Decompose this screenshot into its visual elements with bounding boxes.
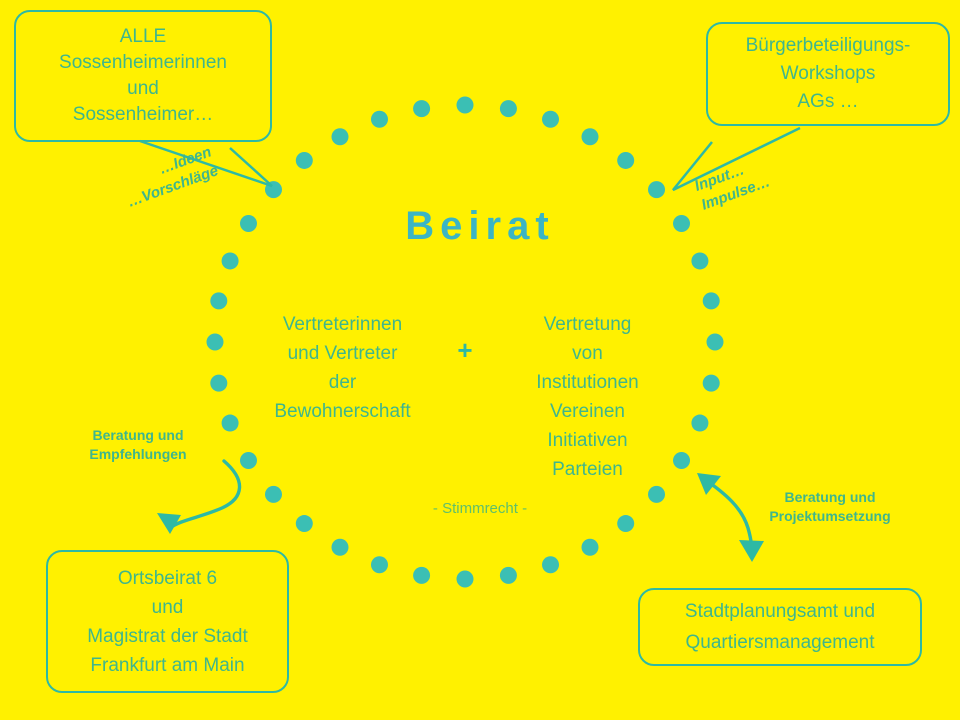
ring-dot [332, 128, 349, 145]
plus-icon: + [450, 310, 480, 365]
label-beratung-empfehlungen: Beratung und Empfehlungen [58, 426, 218, 464]
ring-dot [500, 100, 517, 117]
bubble-workshops-line-2: Workshops [781, 60, 876, 88]
arrow-beratung-empfehlungen [157, 461, 240, 534]
beirat-title: Beirat [0, 204, 960, 249]
ring-dot [703, 292, 720, 309]
box-ortsbeirat-line-3: Magistrat der Stadt [87, 622, 248, 651]
ring-dot [371, 556, 388, 573]
box-ortsbeirat-line-1: Ortsbeirat 6 [118, 564, 217, 593]
ring-dot [210, 292, 227, 309]
ring-dot [648, 181, 665, 198]
ring-dot [222, 415, 239, 432]
ring-dot [457, 571, 474, 588]
bubble-citizens-line-3: und [127, 76, 159, 102]
column-residents-line-1: Vertreterinnen [255, 310, 430, 339]
ring-dot [617, 152, 634, 169]
bubble-citizens-line-4: Sossenheimer… [73, 102, 213, 128]
ring-dot [371, 111, 388, 128]
bubble-workshops-line-1: Bürgerbeteiligungs- [746, 32, 911, 60]
box-ortsbeirat-line-4: Frankfurt am Main [90, 651, 244, 680]
ring-dot [542, 556, 559, 573]
ring-dot [222, 252, 239, 269]
ring-dot [296, 515, 313, 532]
ring-dot [691, 415, 708, 432]
column-residents-line-3: der [255, 368, 430, 397]
ring-dot [413, 567, 430, 584]
bubble-citizens-line-2: Sossenheimerinnen [59, 50, 227, 76]
column-residents-line-2: und Vertreter [255, 339, 430, 368]
box-stadtplanung-line-1: Stadtplanungsamt und [685, 596, 875, 627]
ring-dot [582, 128, 599, 145]
label-beratung-empfehlungen-line-1: Beratung und [58, 426, 218, 445]
column-institutions-line-4: Vereinen [500, 397, 675, 426]
ring-dot [617, 515, 634, 532]
bubble-citizens-line-1: ALLE [120, 24, 166, 50]
ring-dot [296, 152, 313, 169]
label-beratung-projektumsetzung: Beratung und Projektumsetzung [740, 488, 920, 526]
ring-dot [542, 111, 559, 128]
ring-dot [207, 334, 224, 351]
label-beratung-empfehlungen-line-2: Empfehlungen [58, 445, 218, 464]
column-institutions-line-6: Parteien [500, 455, 675, 484]
label-beratung-projektumsetzung-line-2: Projektumsetzung [740, 507, 920, 526]
ring-dot [703, 375, 720, 392]
column-residents: Vertreterinnen und Vertreter der Bewohne… [255, 310, 430, 426]
ring-dot [691, 252, 708, 269]
ring-dot [413, 100, 430, 117]
beirat-composition: Vertreterinnen und Vertreter der Bewohne… [255, 310, 675, 484]
box-ortsbeirat-magistrat[interactable]: Ortsbeirat 6 und Magistrat der Stadt Fra… [46, 550, 289, 693]
speech-bubble-citizens[interactable]: ALLE Sossenheimerinnen und Sossenheimer… [14, 10, 272, 142]
ring-dot [673, 452, 690, 469]
box-ortsbeirat-line-2: und [152, 593, 184, 622]
ring-dot [707, 334, 724, 351]
speech-bubble-workshops[interactable]: Bürgerbeteiligungs- Workshops AGs … [706, 22, 950, 126]
ring-dot [582, 539, 599, 556]
column-institutions-line-3: Institutionen [500, 368, 675, 397]
ring-dot [332, 539, 349, 556]
column-institutions-line-1: Vertretung [500, 310, 675, 339]
bubble-workshops-line-3: AGs … [797, 88, 858, 116]
column-institutions-line-2: von [500, 339, 675, 368]
ring-dot [500, 567, 517, 584]
label-beratung-projektumsetzung-line-1: Beratung und [740, 488, 920, 507]
column-institutions: Vertretung von Institutionen Vereinen In… [500, 310, 675, 484]
ring-dot [457, 97, 474, 114]
column-residents-line-4: Bewohnerschaft [255, 397, 430, 426]
diagram-canvas: ALLE Sossenheimerinnen und Sossenheimer…… [0, 0, 960, 720]
box-stadtplanungsamt-quartiersmanagement[interactable]: Stadtplanungsamt und Quartiersmanagement [638, 588, 922, 666]
column-institutions-line-5: Initiativen [500, 426, 675, 455]
ring-dot [210, 375, 227, 392]
box-stadtplanung-line-2: Quartiersmanagement [685, 627, 874, 658]
